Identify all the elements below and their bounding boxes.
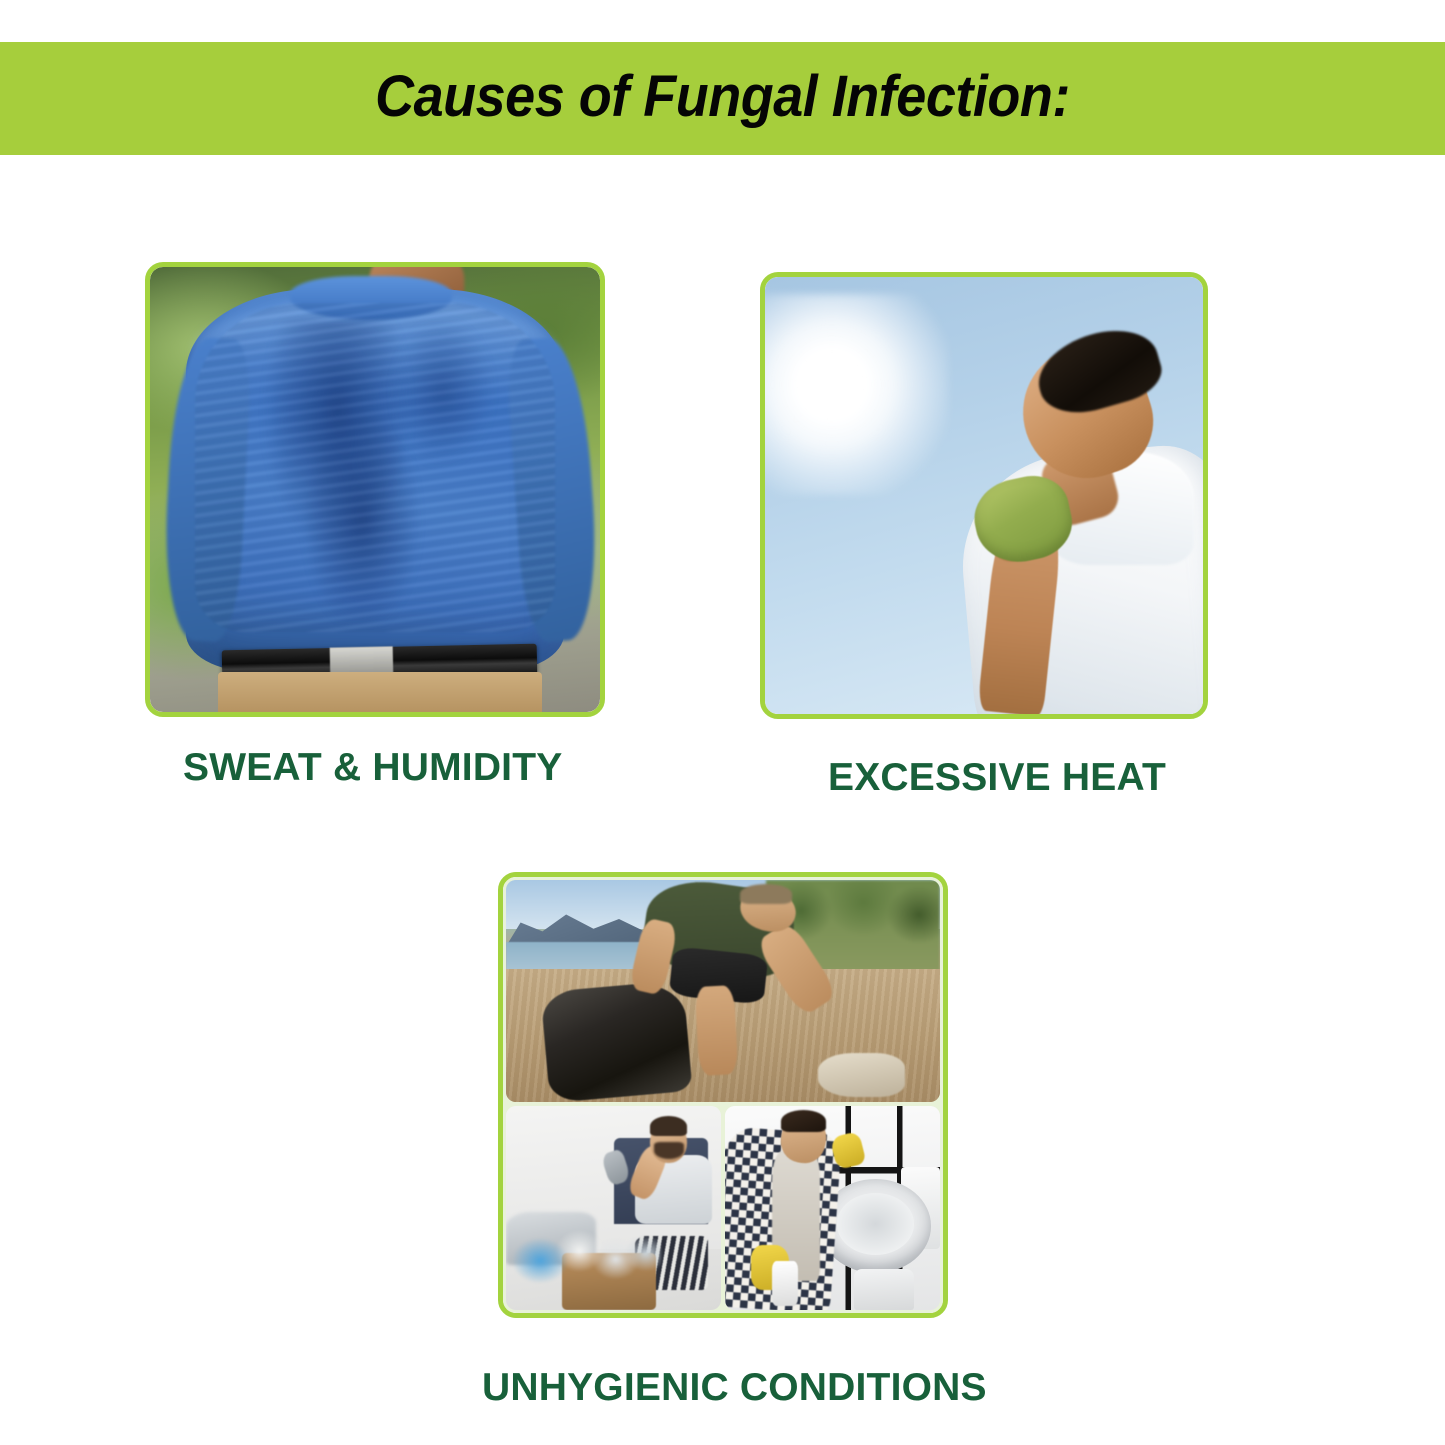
mans-hair (650, 1116, 687, 1136)
card-excessive-heat (760, 272, 1208, 719)
infographic-page: Causes of Fungal Infection: SWEAT & HUMI… (0, 0, 1445, 1445)
header-banner: Causes of Fungal Infection: (0, 42, 1445, 155)
tan-trousers (218, 672, 542, 712)
card-sweat-humidity (145, 262, 605, 717)
photo-laundry-pile (506, 1106, 721, 1310)
cleaner-hair (781, 1110, 826, 1132)
toilet-base (854, 1269, 914, 1310)
volunteer-leg (695, 985, 739, 1076)
pile-of-clothes (510, 1224, 661, 1285)
photo-beach-cleanup (506, 880, 940, 1102)
photo-man-in-heat (765, 277, 1203, 714)
spray-bottle (772, 1261, 798, 1306)
toilet-bowl-interior (837, 1193, 914, 1254)
photo-toilet-cleaning (725, 1106, 940, 1310)
volunteer-hair (740, 884, 792, 904)
black-trash-bag (540, 980, 692, 1101)
photo-collage (503, 877, 943, 1313)
mans-beard (654, 1142, 684, 1158)
photo-sweaty-shirt (150, 267, 600, 712)
caption-excessive-heat: EXCESSIVE HEAT (828, 758, 1166, 797)
sun-icon (800, 356, 861, 417)
fabric-wrinkles (195, 303, 555, 632)
card-unhygienic-conditions (498, 872, 948, 1318)
caption-sweat-humidity: SWEAT & HUMIDITY (183, 748, 562, 787)
collage-bottom-row (506, 1106, 940, 1310)
sea (506, 942, 654, 971)
caption-unhygienic-conditions: UNHYGIENIC CONDITIONS (482, 1368, 987, 1407)
page-title: Causes of Fungal Infection: (375, 68, 1070, 130)
rock (818, 1053, 905, 1097)
